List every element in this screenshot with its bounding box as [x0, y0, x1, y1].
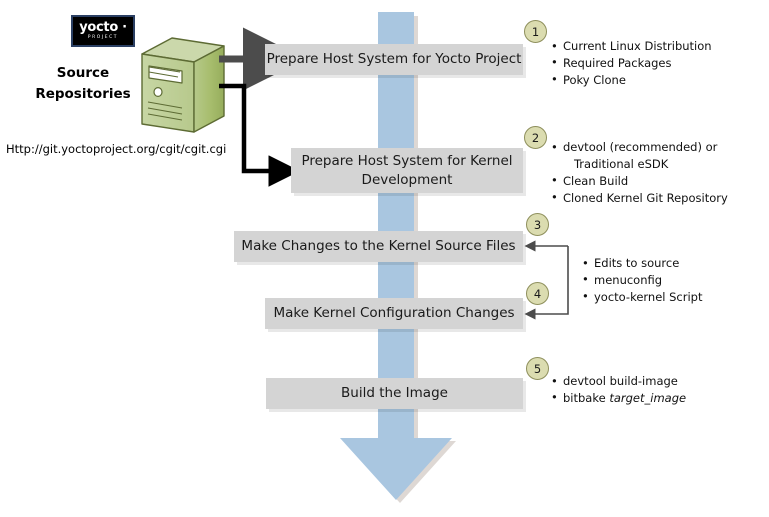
step-badge-1: 1 — [524, 20, 547, 43]
step-box-1[interactable]: Prepare Host System for Yocto Project — [265, 44, 523, 75]
step-badge-2: 2 — [524, 126, 547, 149]
step-badge-4: 4 — [526, 282, 549, 305]
step-badge-3: 3 — [526, 213, 549, 236]
workflow-diagram: yocto · PROJECT Source Repositories Http… — [0, 0, 769, 517]
list-item: Edits to source — [582, 255, 762, 272]
step-badge-5: 5 — [526, 357, 549, 380]
bitbake-command: bitbake — [563, 391, 609, 405]
list-item: bitbake target_image — [551, 390, 751, 407]
list-item: yocto-kernel Script — [582, 289, 762, 306]
step-box-2[interactable]: Prepare Host System for Kernel Developme… — [291, 148, 523, 193]
step-bullets-5: devtool build-image bitbake target_image — [551, 373, 751, 407]
step-bullets-1: Current Linux Distribution Required Pack… — [551, 38, 756, 89]
list-item: Clean Build — [551, 173, 763, 190]
list-item: Current Linux Distribution — [551, 38, 756, 55]
step-box-3[interactable]: Make Changes to the Kernel Source Files — [234, 231, 523, 262]
step-bullets-3-4: Edits to source menuconfig yocto-kernel … — [582, 255, 762, 306]
list-item: Required Packages — [551, 55, 756, 72]
bitbake-target-argument: target_image — [609, 391, 686, 405]
list-item: Cloned Kernel Git Repository — [551, 190, 763, 207]
step-bullets-2: devtool (recommended) or Traditional eSD… — [551, 139, 763, 207]
list-item: devtool (recommended) or Traditional eSD… — [551, 139, 763, 173]
list-item: Poky Clone — [551, 72, 756, 89]
step-box-4[interactable]: Make Kernel Configuration Changes — [265, 298, 523, 329]
list-item: devtool build-image — [551, 373, 751, 390]
step-box-5[interactable]: Build the Image — [266, 378, 523, 409]
list-item: menuconfig — [582, 272, 762, 289]
